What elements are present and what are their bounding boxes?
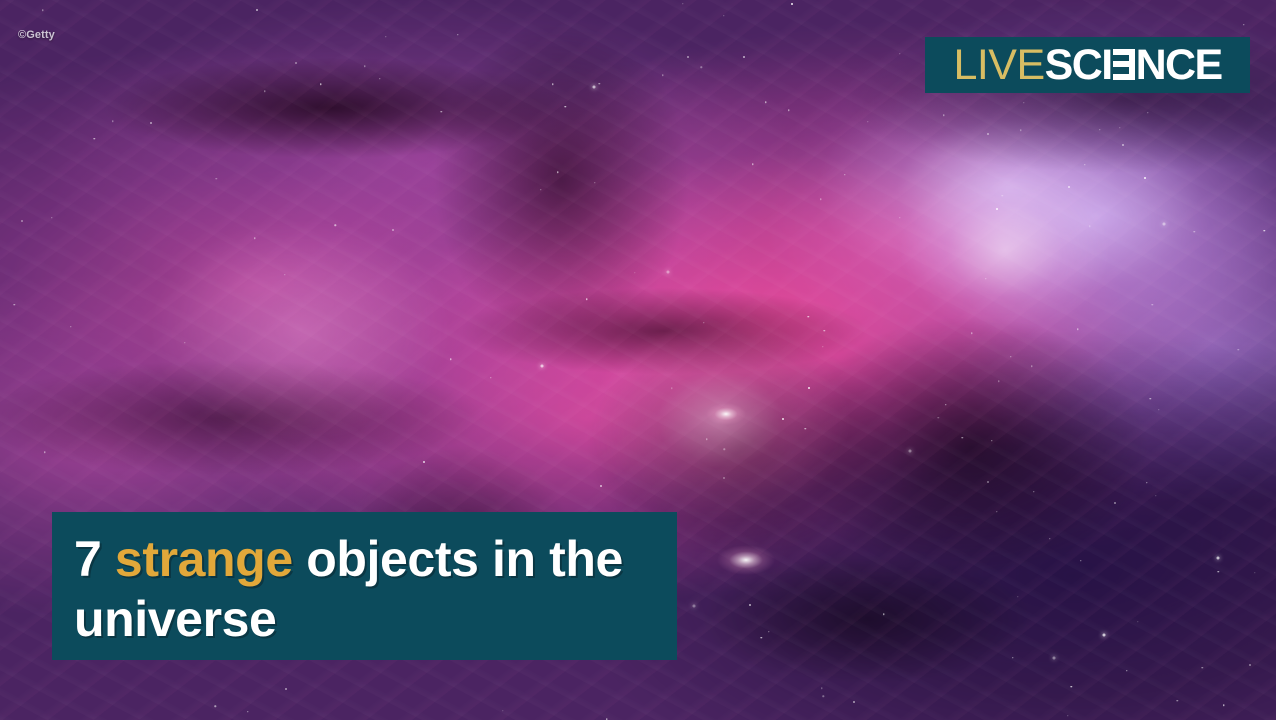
star [634, 272, 635, 273]
star [693, 604, 696, 607]
star [1020, 129, 1021, 130]
star [216, 178, 217, 179]
star [703, 322, 704, 323]
star [592, 86, 595, 89]
star [457, 34, 458, 35]
star [1176, 700, 1177, 701]
star [379, 78, 380, 79]
star [44, 452, 45, 453]
star [1158, 409, 1159, 410]
star [502, 710, 503, 711]
star [150, 122, 152, 124]
star [1102, 633, 1105, 636]
star [823, 695, 824, 696]
star [996, 511, 997, 512]
star [1080, 560, 1081, 561]
star [1067, 715, 1068, 716]
nebula-glow-upper-left [150, 220, 450, 440]
star [788, 109, 789, 110]
star [1071, 686, 1072, 687]
star [985, 278, 986, 279]
star [285, 688, 287, 690]
star [335, 225, 336, 226]
star [254, 238, 255, 239]
star [1012, 657, 1013, 658]
star [998, 381, 999, 382]
logo-stylized-e-icon [1113, 49, 1135, 80]
star [943, 115, 944, 116]
star [594, 182, 595, 183]
star [723, 477, 725, 479]
star [844, 174, 845, 175]
star [971, 333, 972, 334]
star [1023, 102, 1024, 103]
star [687, 56, 689, 58]
star [1194, 231, 1195, 232]
star [184, 342, 185, 343]
star [490, 377, 491, 378]
star [752, 164, 753, 165]
star [1137, 621, 1138, 622]
star [1089, 225, 1090, 226]
star [284, 274, 285, 275]
title-highlight: strange [115, 531, 293, 587]
star [21, 220, 23, 222]
star [1254, 572, 1255, 573]
star [706, 439, 707, 440]
star [945, 404, 946, 405]
bright-star-secondary [706, 403, 746, 425]
star [823, 330, 824, 331]
star [385, 36, 386, 37]
star [1217, 557, 1220, 560]
star [599, 83, 600, 84]
star [1122, 144, 1124, 146]
star [662, 74, 663, 75]
star [791, 3, 793, 5]
star [883, 614, 884, 615]
star [1010, 356, 1011, 357]
star [1031, 366, 1032, 367]
star [821, 687, 822, 688]
logo-live-text: LIVE [953, 44, 1044, 87]
star [586, 298, 587, 299]
star [987, 133, 989, 135]
star [1077, 329, 1078, 330]
star [987, 481, 989, 483]
star [1119, 127, 1120, 128]
star [1237, 349, 1238, 350]
nebula-glow-center [590, 320, 850, 520]
star [1033, 491, 1034, 492]
image-credit: ©Getty [18, 30, 55, 41]
star [1243, 24, 1244, 25]
logo-wordmark: LIVE SCI NCE [953, 44, 1221, 87]
page-title: 7 strange objects in the universe [74, 529, 677, 649]
star [1144, 177, 1146, 179]
star [1202, 667, 1203, 668]
star [822, 346, 823, 347]
star [667, 271, 670, 274]
star [749, 604, 751, 606]
title-banner: 7 strange objects in the universe [52, 512, 677, 660]
star [1017, 596, 1018, 597]
star [671, 387, 672, 388]
star [51, 217, 52, 218]
star [682, 3, 683, 4]
star [1218, 571, 1219, 572]
star [1147, 112, 1148, 113]
star [423, 461, 425, 463]
video-thumbnail-card: ©Getty LIVE SCI NCE 7 strange objects in… [0, 0, 1276, 720]
star [112, 121, 113, 122]
star [743, 56, 745, 58]
star [761, 637, 762, 638]
star [1264, 230, 1265, 231]
logo-sci-text: SCI [1045, 44, 1112, 87]
star [724, 449, 725, 450]
livescience-logo[interactable]: LIVE SCI NCE [925, 37, 1250, 93]
star [962, 437, 963, 438]
star [1249, 664, 1251, 666]
star [295, 62, 297, 64]
star [1162, 223, 1165, 226]
star [600, 485, 602, 487]
star [93, 138, 94, 139]
star [1146, 482, 1147, 483]
star [540, 189, 541, 190]
star [991, 440, 992, 441]
star [214, 705, 215, 706]
star [450, 359, 451, 360]
logo-nce-text: NCE [1136, 44, 1222, 87]
star [899, 53, 900, 54]
star [996, 208, 998, 210]
nebula-glow-upper-right [900, 165, 1110, 335]
star [782, 418, 784, 420]
bright-star-primary [717, 545, 775, 575]
star [1053, 656, 1056, 659]
star [1223, 705, 1224, 706]
star [256, 9, 258, 11]
title-lead: 7 [74, 531, 115, 587]
star [557, 172, 558, 173]
star [320, 84, 321, 85]
star [820, 199, 821, 200]
star [1126, 670, 1127, 671]
star [701, 67, 702, 68]
star [70, 326, 71, 327]
star [247, 711, 248, 712]
star [908, 450, 911, 453]
star [264, 90, 265, 91]
star [807, 316, 808, 317]
star [1049, 538, 1050, 539]
star [1152, 304, 1153, 305]
star [1155, 495, 1156, 496]
star [42, 9, 43, 10]
star [364, 66, 365, 67]
star [1150, 398, 1151, 399]
star [899, 217, 900, 218]
star [552, 84, 553, 85]
star [853, 701, 855, 703]
star [1114, 502, 1116, 504]
star [392, 229, 394, 231]
star [440, 111, 441, 112]
star [1099, 129, 1100, 130]
star [808, 387, 810, 389]
star [805, 428, 806, 429]
star [768, 631, 769, 632]
star [1068, 186, 1070, 188]
star [938, 417, 939, 418]
star [565, 106, 566, 107]
star [1084, 164, 1085, 165]
star [541, 364, 544, 367]
star [1001, 195, 1002, 196]
star [723, 15, 724, 16]
star [867, 121, 868, 122]
star [13, 304, 14, 305]
star [765, 102, 766, 103]
